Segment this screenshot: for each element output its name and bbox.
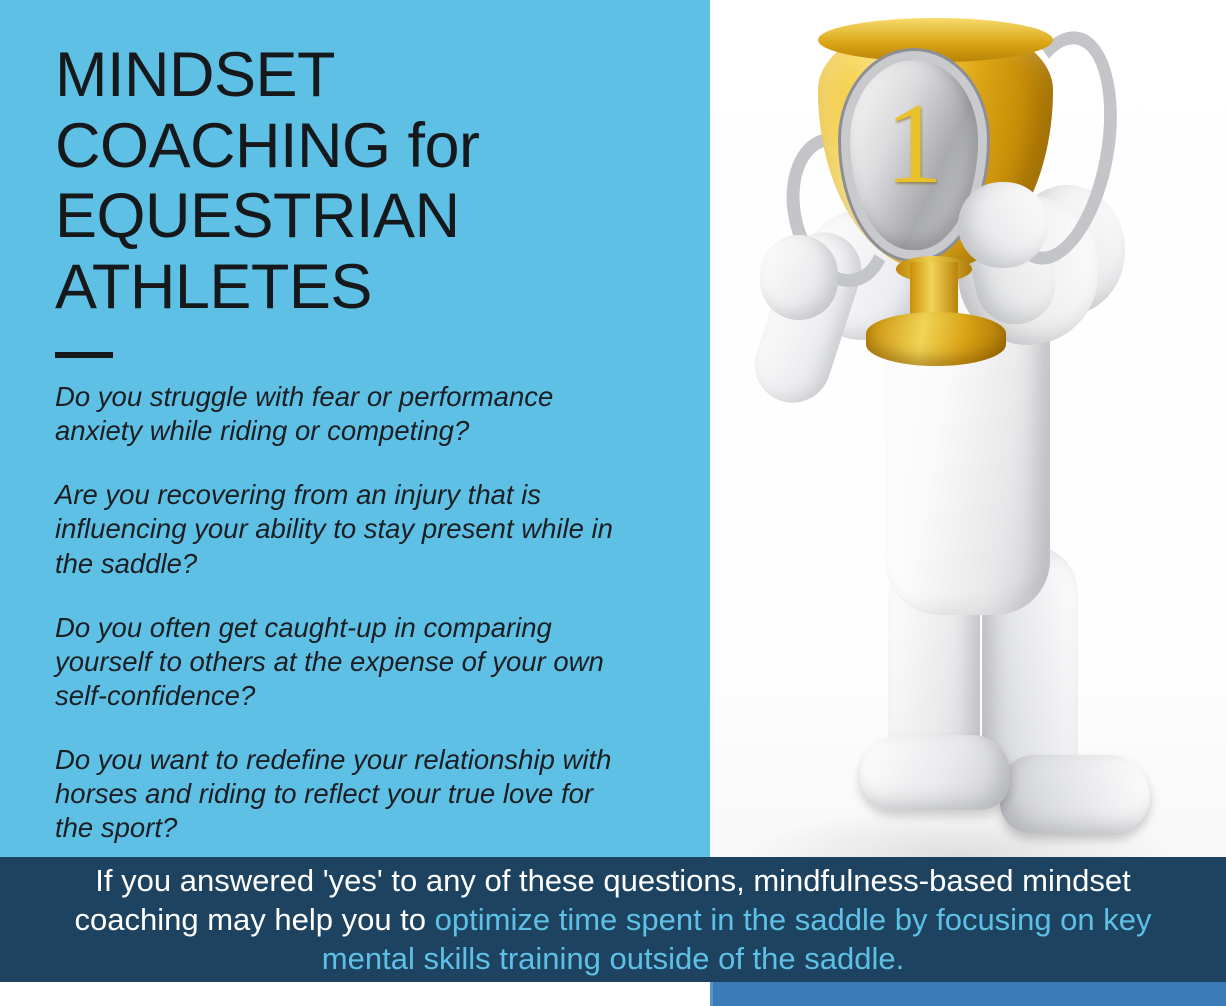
person-hands-overlay: [710, 0, 1226, 982]
callout-banner-text: If you answered 'yes' to any of these qu…: [38, 861, 1188, 978]
list-item: Do you want to redefine your relationshi…: [55, 743, 625, 845]
callout-banner: If you answered 'yes' to any of these qu…: [0, 857, 1226, 982]
list-item: Do you struggle with fear or performance…: [55, 380, 625, 448]
list-item: Do you often get caught-up in comparing …: [55, 611, 625, 713]
bottom-strip-accent-block: [710, 982, 1226, 1006]
title-divider: [55, 352, 113, 358]
left-content-panel: MINDSET COACHING for EQUESTRIAN ATHLETES…: [0, 0, 710, 857]
hero-image-area: 1: [710, 0, 1226, 982]
poster-canvas: MINDSET COACHING for EQUESTRIAN ATHLETES…: [0, 0, 1226, 1006]
questions-list: Do you struggle with fear or performance…: [55, 380, 655, 845]
hand-right-shape: [958, 182, 1048, 268]
hand-left-shape: [760, 235, 838, 320]
bottom-strip: [0, 982, 1226, 1006]
list-item: Are you recovering from an injury that i…: [55, 478, 625, 580]
page-title: MINDSET COACHING for EQUESTRIAN ATHLETES: [55, 32, 655, 322]
callout-accent-text: optimize time spent in the saddle by foc…: [322, 902, 1152, 976]
